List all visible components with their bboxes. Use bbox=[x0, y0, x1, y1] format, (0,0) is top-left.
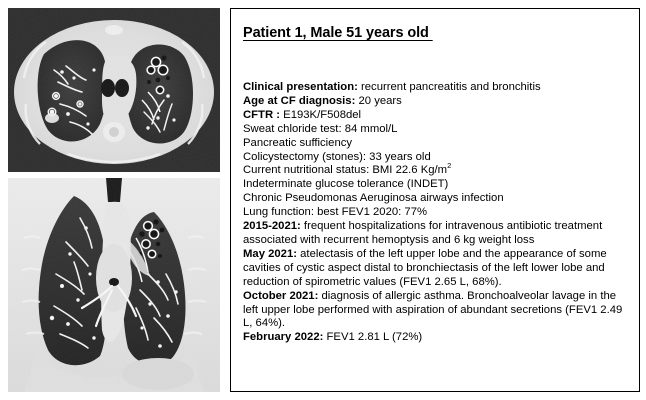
case-line-text: Chronic Pseudomonas Aeruginosa airways i… bbox=[243, 192, 504, 204]
case-line-label: Age at CF diagnosis: bbox=[243, 95, 355, 107]
axial-ct-rendering bbox=[8, 8, 220, 172]
patient-case-panel: Patient 1, Male 51 years old Clinical pr… bbox=[230, 8, 640, 392]
case-line-text: Indeterminate glucose tolerance (INDET) bbox=[243, 178, 448, 190]
superscript: 2 bbox=[447, 162, 451, 171]
case-line-text: Current nutritional status: BMI 22.6 Kg/… bbox=[243, 164, 447, 176]
case-line-label: Clinical presentation: bbox=[243, 81, 358, 93]
case-line-text: Sweat chloride test: 84 mmol/L bbox=[243, 123, 397, 135]
case-line: Sweat chloride test: 84 mmol/L bbox=[243, 123, 629, 137]
case-line-label: May 2021: bbox=[243, 248, 297, 260]
case-line-label: February 2022: bbox=[243, 331, 323, 343]
case-line: Indeterminate glucose tolerance (INDET) bbox=[243, 178, 629, 192]
case-body: Clinical presentation: recurrent pancrea… bbox=[243, 81, 629, 345]
case-line-text: FEV1 2.81 L (72%) bbox=[323, 331, 422, 343]
case-line: Clinical presentation: recurrent pancrea… bbox=[243, 81, 629, 95]
case-line-text: atelectasis of the left upper lobe and t… bbox=[243, 248, 607, 288]
case-line: Lung function: best FEV1 2020: 77% bbox=[243, 206, 629, 220]
case-line-label: CFTR : bbox=[243, 109, 280, 121]
coronal-ct-rendering bbox=[8, 178, 220, 392]
case-line: February 2022: FEV1 2.81 L (72%) bbox=[243, 331, 629, 345]
case-line: Pancreatic sufficiency bbox=[243, 137, 629, 151]
case-line-text: Colicystectomy (stones): 33 years old bbox=[243, 151, 431, 163]
case-line: CFTR : E193K/F508del bbox=[243, 109, 629, 123]
page-title: Patient 1, Male 51 years old bbox=[243, 25, 629, 41]
case-line-text: recurrent pancreatitis and bronchitis bbox=[358, 81, 541, 93]
case-line: May 2021: atelectasis of the left upper … bbox=[243, 248, 629, 290]
axial-chest-ct bbox=[8, 8, 220, 172]
patient-case-figure: Patient 1, Male 51 years old Clinical pr… bbox=[0, 0, 646, 400]
case-line: Current nutritional status: BMI 22.6 Kg/… bbox=[243, 164, 629, 178]
case-line: October 2021: diagnosis of allergic asth… bbox=[243, 290, 629, 332]
case-line-label: October 2021: bbox=[243, 290, 318, 302]
case-line-label: 2015-2021: bbox=[243, 220, 301, 232]
case-line-text: 20 years bbox=[355, 95, 401, 107]
chest-ct-images bbox=[8, 8, 220, 392]
case-line-text: Pancreatic sufficiency bbox=[243, 137, 352, 149]
case-line-text: E193K/F508del bbox=[280, 109, 361, 121]
coronal-chest-ct bbox=[8, 178, 220, 392]
case-line: Age at CF diagnosis: 20 years bbox=[243, 95, 629, 109]
case-line: Colicystectomy (stones): 33 years old bbox=[243, 151, 629, 165]
case-line: 2015-2021: frequent hospitalizations for… bbox=[243, 220, 629, 248]
case-line: Chronic Pseudomonas Aeruginosa airways i… bbox=[243, 192, 629, 206]
case-line-text: Lung function: best FEV1 2020: 77% bbox=[243, 206, 427, 218]
